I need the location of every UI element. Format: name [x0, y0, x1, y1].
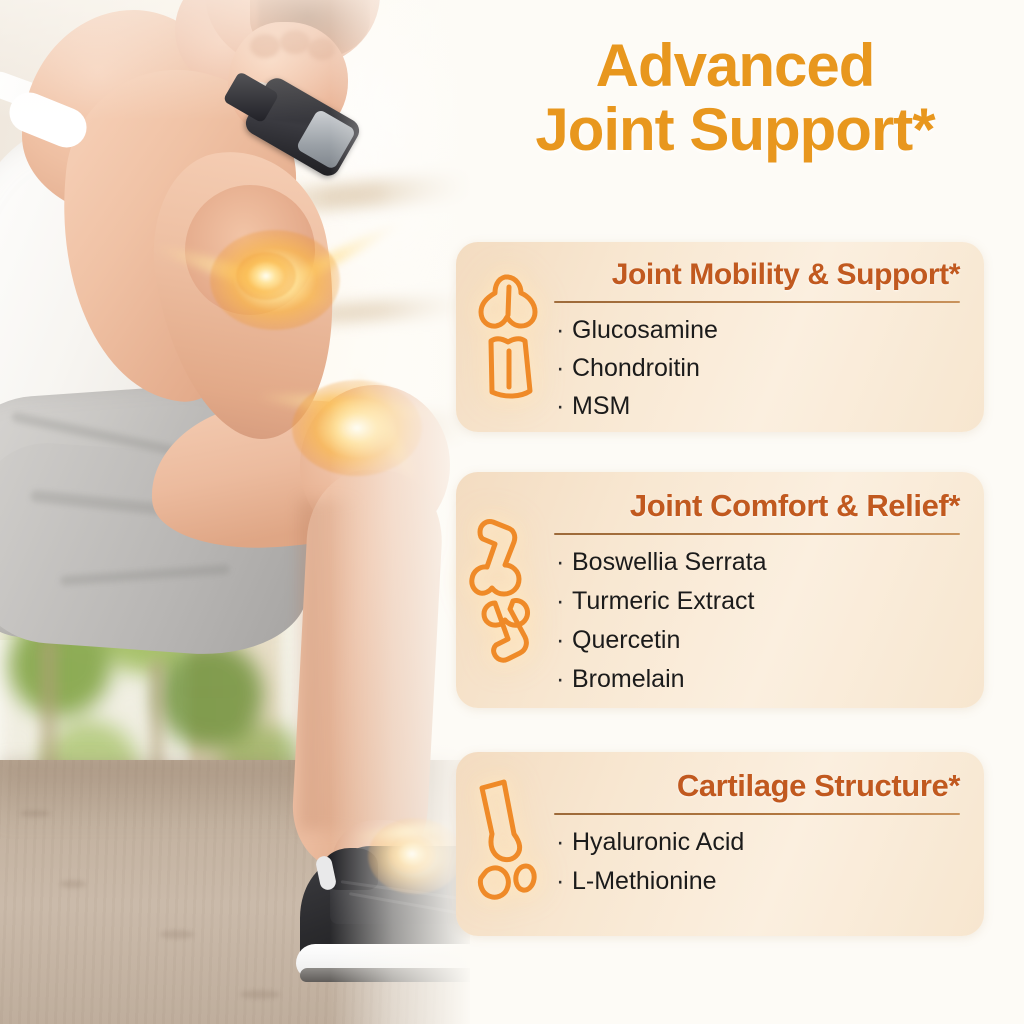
ingredient-name: Turmeric Extract — [572, 587, 754, 615]
bullet-glyph: · — [556, 582, 572, 621]
card-heading: Cartilage Structure* — [552, 752, 966, 804]
list-item: ·Glucosamine — [556, 311, 966, 349]
benefit-card-joint-comfort-relief[interactable]: Joint Comfort & Relief* ·Boswellia Serra… — [456, 472, 984, 708]
bullet-glyph: · — [556, 543, 572, 582]
photo-ground-speck — [60, 880, 86, 888]
list-item: ·L-Methionine — [556, 862, 966, 901]
card-heading: Joint Comfort & Relief* — [552, 472, 966, 524]
photo-right-fade — [330, 0, 470, 1024]
bullet-glyph: · — [556, 311, 572, 349]
photo-ground-speck — [20, 810, 50, 817]
card-heading-rule — [554, 813, 960, 815]
ingredient-name: Boswellia Serrata — [572, 548, 767, 576]
bullet-glyph: · — [556, 387, 572, 425]
list-item: ·Quercetin — [556, 621, 966, 660]
bullet-glyph: · — [556, 349, 572, 387]
ingredient-name: Glucosamine — [572, 316, 718, 344]
bullet-glyph: · — [556, 862, 572, 901]
ingredient-name: MSM — [572, 392, 630, 420]
ingredient-name: L-Methionine — [572, 867, 717, 895]
ingredient-name: Quercetin — [572, 626, 680, 654]
benefit-card-cartilage-structure[interactable]: Cartilage Structure* ·Hyaluronic Acid ·L… — [456, 752, 984, 936]
man-kneeling-with-glowing-joints-photo — [0, 0, 470, 1024]
list-item: ·Boswellia Serrata — [556, 543, 966, 582]
hip-joint-icon — [456, 472, 552, 708]
ingredient-name: Chondroitin — [572, 354, 700, 382]
ingredient-list: ·Hyaluronic Acid ·L-Methionine — [552, 823, 966, 901]
page-title: Advanced Joint Support* — [452, 34, 1018, 161]
list-item: ·Turmeric Extract — [556, 582, 966, 621]
ingredient-name: Hyaluronic Acid — [572, 828, 744, 856]
list-item: ·Hyaluronic Acid — [556, 823, 966, 862]
list-item: ·Bromelain — [556, 660, 966, 699]
list-item: ·Chondroitin — [556, 349, 966, 387]
bullet-glyph: · — [556, 823, 572, 862]
ingredient-list: ·Glucosamine ·Chondroitin ·MSM — [552, 311, 966, 425]
ingredient-list: ·Boswellia Serrata ·Turmeric Extract ·Qu… — [552, 543, 966, 699]
cartilage-bone-icon — [456, 752, 552, 936]
photo-ground-speck — [160, 930, 194, 939]
bullet-glyph: · — [556, 621, 572, 660]
ingredient-name: Bromelain — [572, 665, 685, 693]
knee-joint-icon — [456, 242, 552, 432]
page-title-line-1: Advanced — [596, 32, 875, 99]
infographic-canvas: Advanced Joint Support* Joint Mobility &… — [0, 0, 1024, 1024]
bullet-glyph: · — [556, 660, 572, 699]
list-item: ·MSM — [556, 387, 966, 425]
card-heading-rule — [554, 301, 960, 303]
photo-ground-speck — [240, 990, 280, 999]
photo-elbow — [185, 185, 315, 315]
card-heading-rule — [554, 533, 960, 535]
benefit-card-joint-mobility-support[interactable]: Joint Mobility & Support* ·Glucosamine ·… — [456, 242, 984, 432]
card-heading: Joint Mobility & Support* — [552, 242, 966, 292]
page-title-line-2: Joint Support* — [452, 98, 1018, 162]
